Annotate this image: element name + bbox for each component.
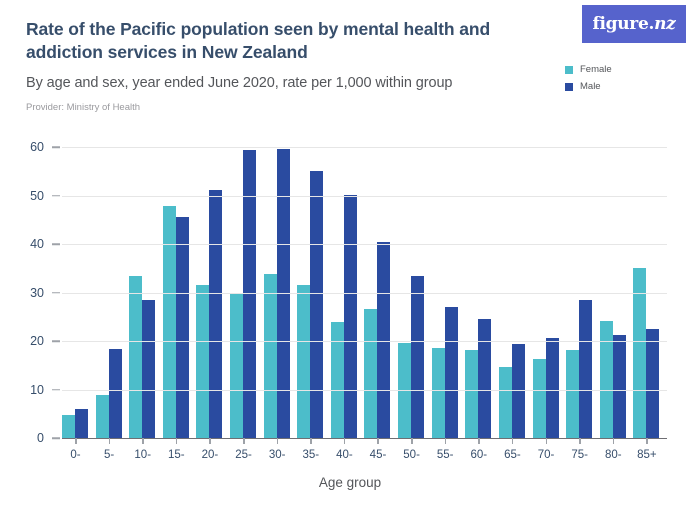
x-axis-tick-label: 75- <box>571 449 588 461</box>
bar-female[interactable] <box>398 343 411 438</box>
bar-male[interactable] <box>646 329 659 438</box>
x-axis-tick-label: 80- <box>605 449 622 461</box>
y-axis-tick-label: 40 <box>0 237 44 251</box>
bar-male[interactable] <box>613 335 626 438</box>
bar-female[interactable] <box>264 274 277 438</box>
x-axis-tick-mark <box>109 438 111 444</box>
x-axis-tick-mark <box>310 438 312 444</box>
x-axis-tick: 55- <box>432 438 466 468</box>
x-axis-tick-label: 20- <box>202 449 219 461</box>
x-axis-tick: 20- <box>196 438 230 468</box>
gridline <box>62 293 667 294</box>
y-axis-tick-mark <box>52 340 60 342</box>
bar-female[interactable] <box>297 285 310 438</box>
bar-female[interactable] <box>600 321 613 438</box>
y-axis-tick-label: 60 <box>0 140 44 154</box>
y-axis-tick-label: 20 <box>0 334 44 348</box>
bar-chart: 0102030405060 0-5-10-15-20-25-30-35-40-4… <box>0 0 700 525</box>
gridline <box>62 196 667 197</box>
y-axis-tick-mark <box>52 292 60 294</box>
bar-male[interactable] <box>546 338 559 438</box>
x-axis-tick-label: 25- <box>235 449 252 461</box>
x-axis-tick: 10- <box>129 438 163 468</box>
bar-female[interactable] <box>96 395 109 438</box>
plot-area: 0102030405060 <box>62 147 667 438</box>
x-axis-tick-mark <box>176 438 178 444</box>
gridline <box>62 390 667 391</box>
x-axis-tick-mark <box>411 438 413 444</box>
x-axis-tick-label: 30- <box>269 449 286 461</box>
x-axis-tick: 60- <box>465 438 499 468</box>
x-axis-tick-mark <box>445 438 447 444</box>
bar-male[interactable] <box>579 300 592 438</box>
x-axis-tick: 65- <box>499 438 533 468</box>
x-axis-tick-mark <box>243 438 245 444</box>
y-axis-tick-mark <box>52 243 60 245</box>
x-axis-tick: 80- <box>600 438 634 468</box>
bar-female[interactable] <box>566 350 579 438</box>
bar-female[interactable] <box>432 348 445 438</box>
bar-male[interactable] <box>176 217 189 438</box>
x-axis-tick: 85+ <box>633 438 667 468</box>
x-axis-tick-label: 15- <box>168 449 185 461</box>
y-axis-tick-mark <box>52 389 60 391</box>
gridline <box>62 341 667 342</box>
x-axis-tick-mark <box>344 438 346 444</box>
bar-female[interactable] <box>499 367 512 438</box>
x-axis-tick: 70- <box>533 438 567 468</box>
bar-female[interactable] <box>331 322 344 438</box>
bar-male[interactable] <box>109 349 122 438</box>
x-axis-tick-mark <box>613 438 615 444</box>
y-axis-tick-mark <box>52 146 60 148</box>
bar-female[interactable] <box>364 309 377 438</box>
x-axis-tick-mark <box>512 438 514 444</box>
x-axis-tick-mark <box>277 438 279 444</box>
bar-female[interactable] <box>129 276 142 438</box>
x-axis-tick-mark <box>377 438 379 444</box>
bar-male[interactable] <box>243 150 256 438</box>
bar-male[interactable] <box>310 171 323 438</box>
x-axis-tick-label: 10- <box>134 449 151 461</box>
y-axis-tick-mark <box>52 437 60 439</box>
x-axis-tick: 5- <box>96 438 130 468</box>
x-axis-tick: 75- <box>566 438 600 468</box>
x-axis-tick: 25- <box>230 438 264 468</box>
y-axis-tick-label: 10 <box>0 383 44 397</box>
x-axis-tick: 0- <box>62 438 96 468</box>
bar-female[interactable] <box>196 285 209 438</box>
x-axis-tick-label: 45- <box>370 449 387 461</box>
bar-male[interactable] <box>344 195 357 438</box>
x-axis-tick-mark <box>478 438 480 444</box>
x-axis-tick: 35- <box>297 438 331 468</box>
x-axis-tick-label: 70- <box>538 449 555 461</box>
x-axis-tick-mark <box>209 438 211 444</box>
bar-male[interactable] <box>75 409 88 438</box>
bar-female[interactable] <box>230 293 243 439</box>
x-axis-tick: 40- <box>331 438 365 468</box>
y-axis-tick-label: 0 <box>0 431 44 445</box>
x-axis-tick-label: 40- <box>336 449 353 461</box>
x-axis-tick: 15- <box>163 438 197 468</box>
x-axis-ticks: 0-5-10-15-20-25-30-35-40-45-50-55-60-65-… <box>62 438 667 468</box>
x-axis-tick-mark <box>579 438 581 444</box>
x-axis-tick: 30- <box>264 438 298 468</box>
gridline <box>62 244 667 245</box>
x-axis-tick-mark <box>142 438 144 444</box>
bar-female[interactable] <box>465 350 478 438</box>
x-axis-tick-mark <box>75 438 77 444</box>
y-axis-tick-label: 30 <box>0 286 44 300</box>
x-axis-tick-mark <box>646 438 648 444</box>
bar-male[interactable] <box>445 307 458 438</box>
x-axis-tick-label: 85+ <box>637 449 657 461</box>
bar-male[interactable] <box>142 300 155 438</box>
bar-male[interactable] <box>512 344 525 438</box>
x-axis-tick-label: 5- <box>104 449 114 461</box>
bar-female[interactable] <box>633 268 646 438</box>
bar-male[interactable] <box>209 190 222 438</box>
x-axis-tick-mark <box>546 438 548 444</box>
x-axis-tick-label: 60- <box>471 449 488 461</box>
y-axis-tick-mark <box>52 195 60 197</box>
bar-male[interactable] <box>411 276 424 438</box>
bar-female[interactable] <box>533 359 546 438</box>
chart-page: Rate of the Pacific population seen by m… <box>0 0 700 525</box>
bar-male[interactable] <box>478 319 491 438</box>
x-axis-tick: 50- <box>398 438 432 468</box>
x-axis-title: Age group <box>0 475 700 490</box>
bar-female[interactable] <box>62 415 75 438</box>
gridline <box>62 147 667 148</box>
x-axis-tick-label: 35- <box>302 449 319 461</box>
bar-female[interactable] <box>163 206 176 438</box>
x-axis-tick-label: 50- <box>403 449 420 461</box>
x-axis-tick-label: 55- <box>437 449 454 461</box>
x-axis-tick-label: 0- <box>70 449 80 461</box>
y-axis-tick-label: 50 <box>0 189 44 203</box>
x-axis-tick-label: 65- <box>504 449 521 461</box>
x-axis-tick: 45- <box>364 438 398 468</box>
